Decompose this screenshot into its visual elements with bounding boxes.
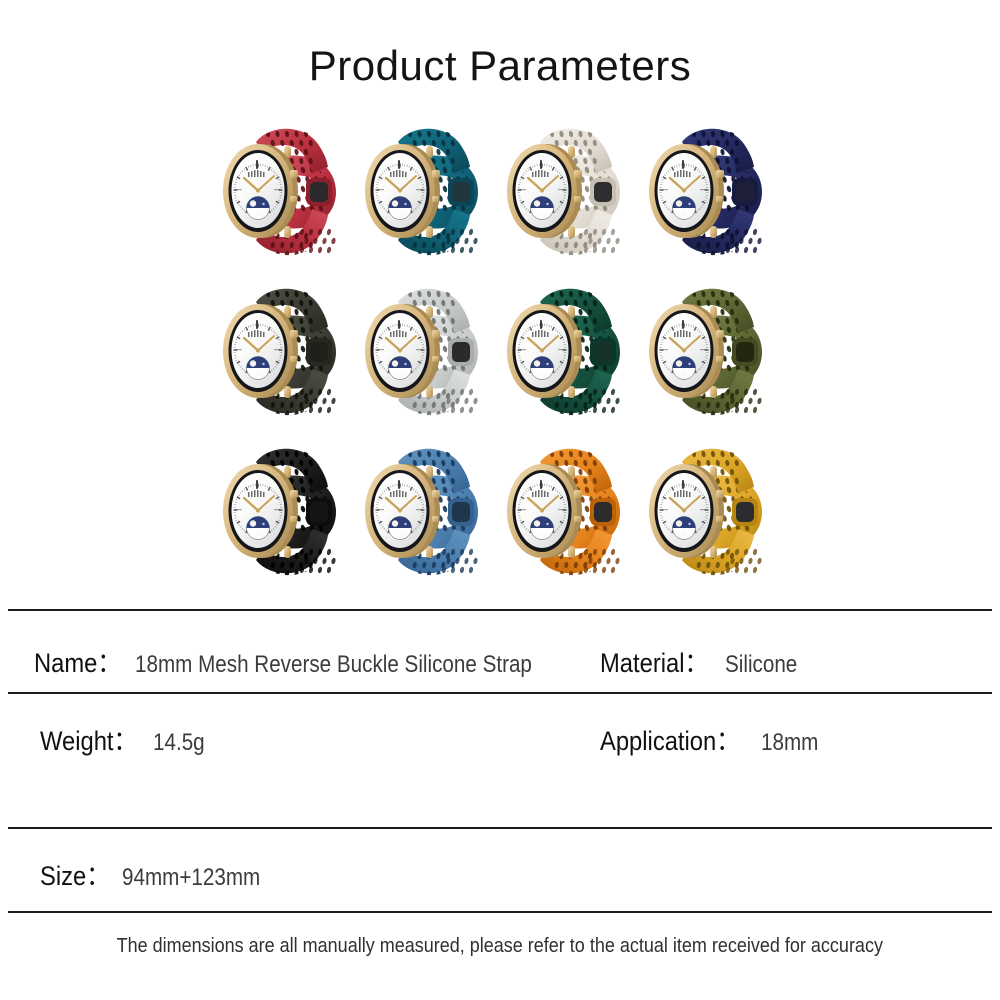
watch-cream — [490, 112, 632, 272]
watch-black — [206, 432, 348, 592]
watch-mustard — [632, 432, 774, 592]
watch-red — [206, 112, 348, 272]
measurement-disclaimer: The dimensions are all manually measured… — [0, 935, 1000, 958]
spec-field-material: Material： Silicone — [600, 641, 809, 680]
divider-after-weight-row — [8, 827, 992, 829]
watch-charcoal — [206, 272, 348, 432]
spec-label-material: Material： — [600, 641, 708, 680]
spec-value-weight: 14.5g — [153, 729, 205, 757]
spec-value-name: 18mm Mesh Reverse Buckle Silicone Strap — [135, 651, 532, 679]
spec-label-weight: Weight： — [40, 719, 137, 758]
watch-lightgray — [348, 272, 490, 432]
spec-value-application: 18mm — [761, 729, 818, 757]
spec-field-name: Name： 18mm Mesh Reverse Buckle Silicone … — [34, 641, 597, 680]
watch-armygreen — [632, 272, 774, 432]
spec-label-application: Application： — [600, 719, 740, 758]
spec-value-size: 94mm+123mm — [122, 864, 260, 892]
product-parameters-page: Product Parameters — [0, 0, 1000, 1000]
spec-row-name: Name： 18mm Mesh Reverse Buckle Silicone … — [8, 636, 992, 684]
spec-row-weight: Weight： 14.5g Application： 18mm — [8, 714, 992, 762]
divider-top — [8, 609, 992, 611]
spec-label-name: Name： — [34, 641, 121, 680]
watch-teal — [348, 112, 490, 272]
watch-darkgreen — [490, 272, 632, 432]
spec-field-size: Size： 94mm+123mm — [40, 854, 282, 893]
spec-label-size: Size： — [40, 854, 110, 893]
spec-row-size: Size： 94mm+123mm — [8, 849, 992, 897]
page-title: Product Parameters — [0, 42, 1000, 90]
watch-navy — [632, 112, 774, 272]
divider-bottom — [8, 911, 992, 913]
spec-field-application: Application： 18mm — [600, 719, 828, 758]
divider-after-name-row — [8, 692, 992, 694]
watch-steelblue — [348, 432, 490, 592]
spec-value-material: Silicone — [725, 651, 797, 679]
product-color-variant-gallery — [206, 112, 776, 592]
spec-field-weight: Weight： 14.5g — [40, 719, 213, 758]
watch-orange — [490, 432, 632, 592]
measurement-disclaimer-text: The dimensions are all manually measured… — [117, 935, 883, 958]
